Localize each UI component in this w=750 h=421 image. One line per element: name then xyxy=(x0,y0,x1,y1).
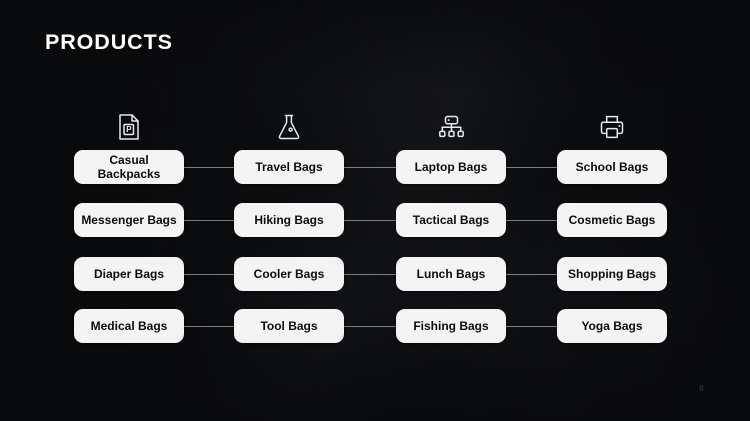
product-node-diaper-bags[interactable]: Diaper Bags xyxy=(74,257,184,291)
product-node-medical-bags[interactable]: Medical Bags xyxy=(74,309,184,343)
connector xyxy=(344,220,396,221)
product-node-lunch-bags[interactable]: Lunch Bags xyxy=(396,257,506,291)
product-node-cosmetic-bags[interactable]: Cosmetic Bags xyxy=(557,203,667,237)
product-node-casual-backpacks[interactable]: Casual Backpacks xyxy=(74,150,184,184)
product-node-tactical-bags[interactable]: Tactical Bags xyxy=(396,203,506,237)
connector xyxy=(184,274,234,275)
connector xyxy=(344,274,396,275)
connector xyxy=(184,220,234,221)
connector xyxy=(184,326,234,327)
connector xyxy=(506,220,557,221)
product-node-travel-bags[interactable]: Travel Bags xyxy=(234,150,344,184)
connector xyxy=(184,167,234,168)
connector xyxy=(506,274,557,275)
product-node-fishing-bags[interactable]: Fishing Bags xyxy=(396,309,506,343)
connector xyxy=(506,167,557,168)
connector xyxy=(344,326,396,327)
product-node-tool-bags[interactable]: Tool Bags xyxy=(234,309,344,343)
product-grid: Casual Backpacks Travel Bags Laptop Bags… xyxy=(0,0,750,421)
product-node-shopping-bags[interactable]: Shopping Bags xyxy=(557,257,667,291)
product-node-cooler-bags[interactable]: Cooler Bags xyxy=(234,257,344,291)
product-node-messenger-bags[interactable]: Messenger Bags xyxy=(74,203,184,237)
product-node-school-bags[interactable]: School Bags xyxy=(557,150,667,184)
page-number: 8 xyxy=(699,384,704,393)
slide-canvas: PRODUCTS P xyxy=(0,0,750,421)
connector xyxy=(506,326,557,327)
connector xyxy=(344,167,396,168)
product-node-hiking-bags[interactable]: Hiking Bags xyxy=(234,203,344,237)
product-node-laptop-bags[interactable]: Laptop Bags xyxy=(396,150,506,184)
product-node-yoga-bags[interactable]: Yoga Bags xyxy=(557,309,667,343)
